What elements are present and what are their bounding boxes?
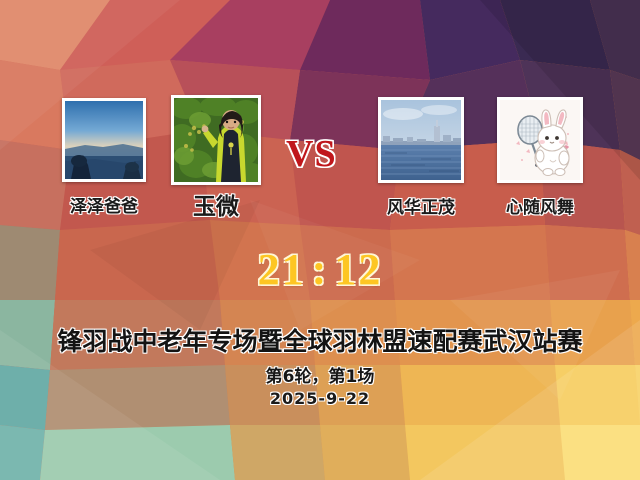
player-card-1[interactable]: 泽泽爸爸 xyxy=(58,98,150,182)
player-card-4[interactable]: 心随风舞 xyxy=(494,97,586,183)
match-date: 2025-9-22 xyxy=(0,389,640,408)
player-name-2: 玉微 xyxy=(170,187,262,221)
scoreboard-poster: 泽泽爸爸 xyxy=(0,0,640,480)
vs-label: VS xyxy=(286,132,337,176)
avatar-3[interactable] xyxy=(378,97,464,183)
player-card-3[interactable]: 风华正茂 xyxy=(375,97,467,183)
score-right: 12 xyxy=(334,245,382,294)
avatar-4[interactable] xyxy=(497,97,583,183)
avatar-2[interactable] xyxy=(171,95,261,185)
player-name-3: 风华正茂 xyxy=(375,193,467,218)
players-row: 泽泽爸爸 xyxy=(0,0,640,480)
woman-in-green-foliage-photo xyxy=(174,98,258,182)
lake-city-skyline-photo xyxy=(381,100,461,180)
cartoon-rabbit-badminton-illustration xyxy=(500,100,580,180)
score-display: 21:12 xyxy=(0,244,640,295)
score-left: 21 xyxy=(258,245,306,294)
player-name-4: 心随风舞 xyxy=(494,193,586,218)
avatar-1[interactable] xyxy=(62,98,146,182)
round-label: 第6轮，第1场 xyxy=(0,362,640,387)
player-name-1: 泽泽爸爸 xyxy=(58,192,150,217)
event-title: 锋羽战中老年专场暨全球羽林盟速配赛武汉站赛 xyxy=(0,322,640,358)
player-card-2[interactable]: 玉微 xyxy=(170,95,262,185)
score-separator: : xyxy=(312,245,329,294)
mountain-sea-dusk-photo xyxy=(65,101,143,179)
